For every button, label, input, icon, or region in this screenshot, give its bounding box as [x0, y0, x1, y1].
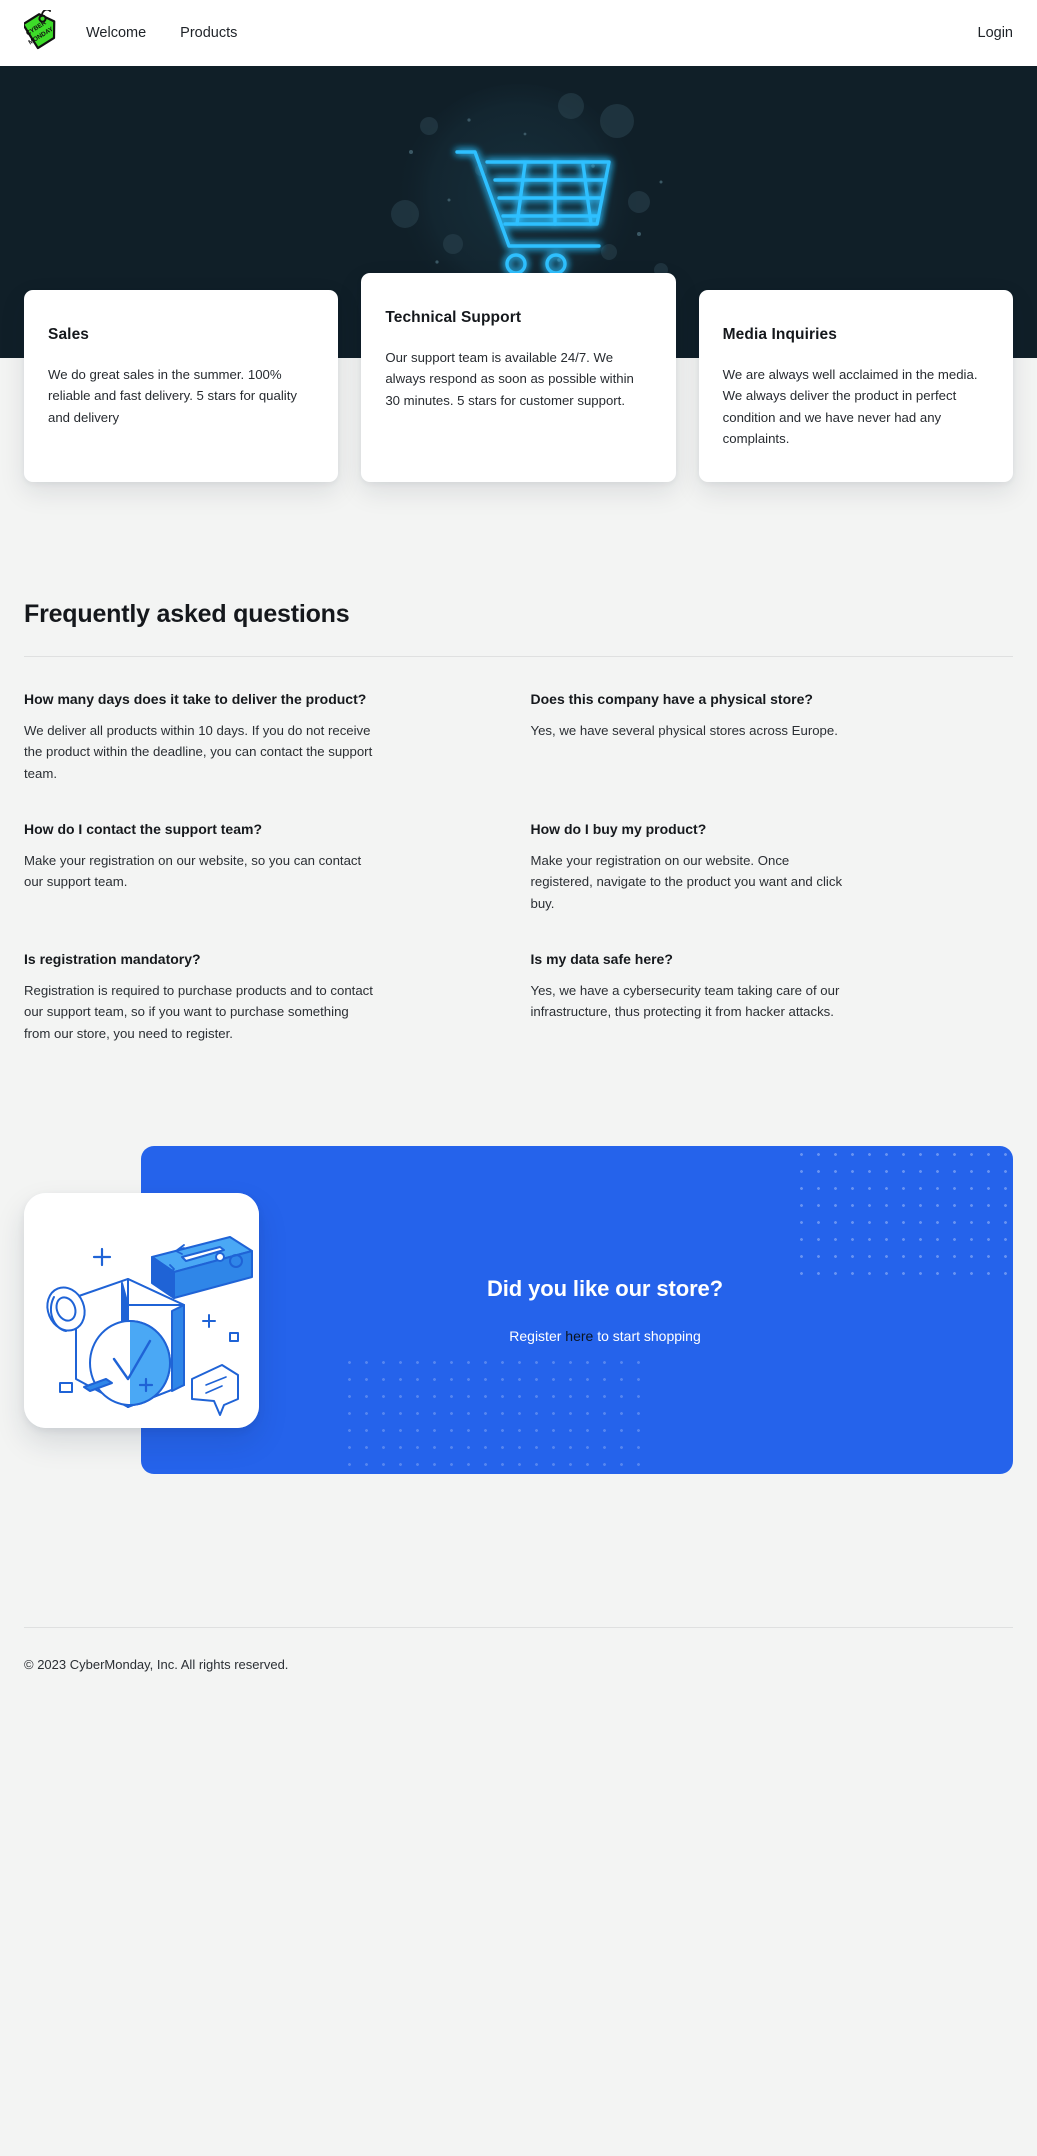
cta-text-before: Register: [509, 1328, 565, 1344]
info-card-media-inquiries: Media Inquiries We are always well accla…: [699, 290, 1013, 482]
info-card-title: Sales: [48, 326, 314, 344]
faq-question: How many days does it take to deliver th…: [24, 690, 507, 709]
faq-answer: We deliver all products within 10 days. …: [24, 720, 374, 784]
cta-subtitle: Register here to start shopping: [385, 1328, 825, 1344]
faq-answer: Yes, we have a cybersecurity team taking…: [531, 980, 851, 1023]
faq-question: Is registration mandatory?: [24, 950, 507, 969]
faq-divider: [24, 656, 1013, 657]
faq-grid: How many days does it take to deliver th…: [24, 690, 1013, 1080]
faq-answer: Yes, we have several physical stores acr…: [531, 720, 881, 741]
cta-illustration-card: [24, 1193, 259, 1428]
nav-link-welcome[interactable]: Welcome: [86, 25, 146, 41]
info-card-technical-support: Technical Support Our support team is av…: [361, 273, 675, 482]
cta-content: Did you like our store? Register here to…: [385, 1276, 825, 1344]
info-card-title: Technical Support: [385, 309, 651, 327]
dot-pattern-bottom-left-icon: [341, 1354, 641, 1474]
faq-question: Does this company have a physical store?: [531, 690, 1014, 709]
cta-register-link[interactable]: here: [565, 1328, 593, 1344]
footer-copyright: © 2023 CyberMonday, Inc. All rights rese…: [24, 1657, 288, 1672]
dot-pattern-top-right-icon: [793, 1146, 1013, 1286]
info-card-text: Our support team is available 24/7. We a…: [385, 347, 651, 411]
faq-item: How do I buy my product? Make your regis…: [531, 820, 1014, 914]
nav-link-products[interactable]: Products: [180, 25, 237, 41]
footer: © 2023 CyberMonday, Inc. All rights rese…: [0, 1628, 1037, 1672]
cta-text-after: to start shopping: [593, 1328, 700, 1344]
cta-section: Did you like our store? Register here to…: [0, 1146, 1037, 1476]
info-card-sales: Sales We do great sales in the summer. 1…: [24, 290, 338, 482]
info-cards-row: Sales We do great sales in the summer. 1…: [0, 290, 1037, 482]
top-navbar: CYBER MONDAY Welcome Products Login: [0, 0, 1037, 66]
cta-title: Did you like our store?: [385, 1276, 825, 1302]
primary-nav: Welcome Products: [86, 25, 237, 41]
faq-item: How many days does it take to deliver th…: [24, 690, 507, 784]
info-card-title: Media Inquiries: [723, 326, 989, 344]
faq-question: Is my data safe here?: [531, 950, 1014, 969]
faq-answer: Make your registration on our website. O…: [531, 850, 851, 914]
faq-section: Frequently asked questions How many days…: [0, 482, 1037, 1080]
faq-item: Is my data safe here? Yes, we have a cyb…: [531, 950, 1014, 1044]
faq-question: How do I contact the support team?: [24, 820, 507, 839]
info-card-text: We do great sales in the summer. 100% re…: [48, 364, 314, 428]
faq-item: Does this company have a physical store?…: [531, 690, 1014, 784]
info-card-text: We are always well acclaimed in the medi…: [723, 364, 989, 450]
faq-item: Is registration mandatory? Registration …: [24, 950, 507, 1044]
shopping-illustration-icon: [24, 1193, 259, 1428]
faq-answer: Registration is required to purchase pro…: [24, 980, 374, 1044]
faq-heading: Frequently asked questions: [24, 600, 1013, 629]
nav-link-login[interactable]: Login: [978, 25, 1013, 41]
faq-answer: Make your registration on our website, s…: [24, 850, 374, 893]
faq-question: How do I buy my product?: [531, 820, 1014, 839]
brand-logo-icon[interactable]: CYBER MONDAY: [24, 10, 66, 56]
faq-item: How do I contact the support team? Make …: [24, 820, 507, 914]
cta-blue-panel: Did you like our store? Register here to…: [141, 1146, 1013, 1474]
